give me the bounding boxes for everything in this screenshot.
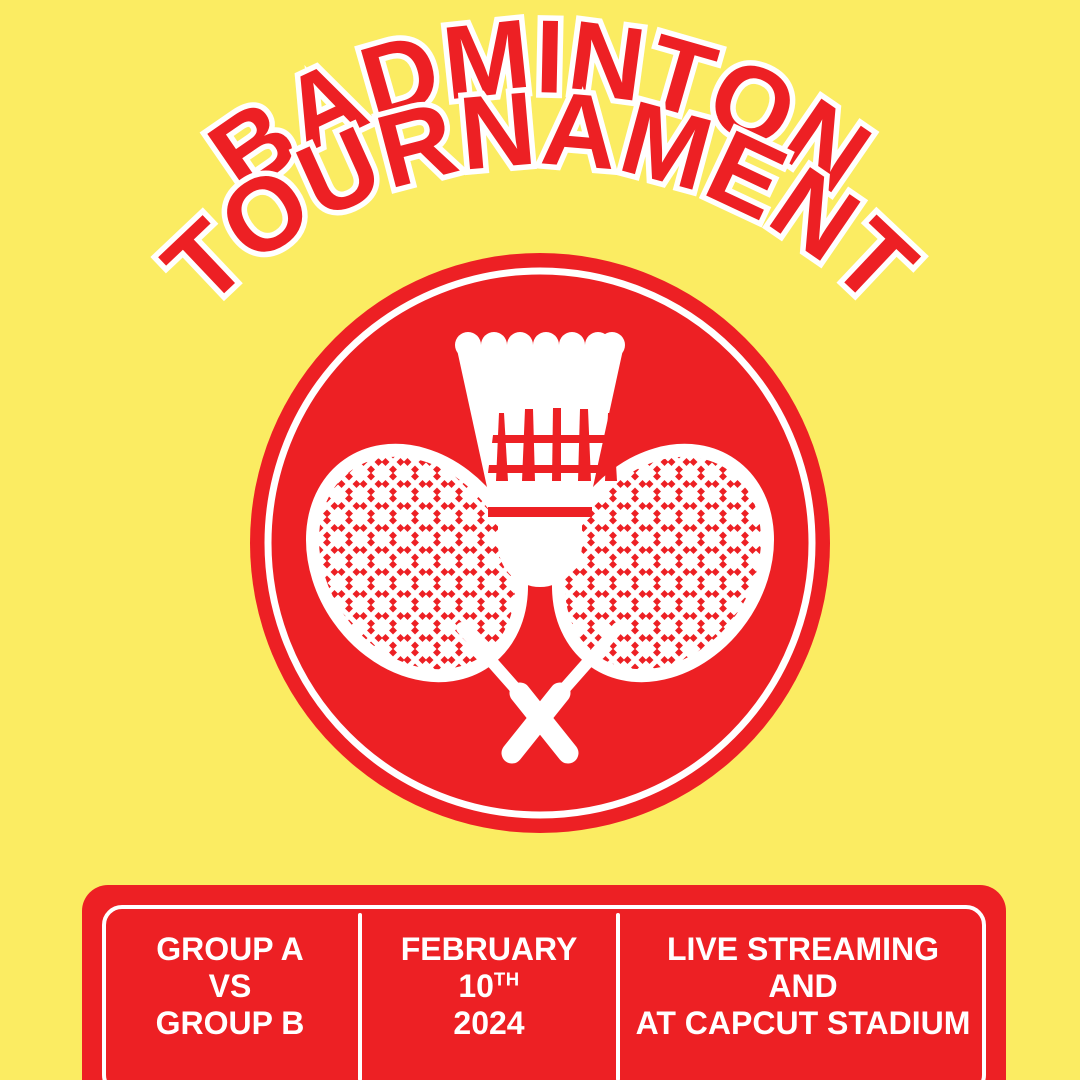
date-day-suffix: TH: [494, 968, 520, 989]
emblem-badge: [250, 253, 830, 833]
venue-line-1: LIVE STREAMING: [667, 931, 939, 968]
matchup-line-3: GROUP B: [156, 1005, 305, 1042]
banner-column-venue: LIVE STREAMING AND AT CAPCUT STADIUM: [620, 905, 986, 1042]
date-day-number: 10: [458, 968, 494, 1004]
banner-column-matchup: GROUP A VS GROUP B: [102, 905, 358, 1042]
poster-canvas: BADMINTON TOURNAMENT: [0, 0, 1080, 1080]
date-day: 10TH: [458, 968, 519, 1005]
banner-columns: GROUP A VS GROUP B FEBRUARY 10TH 2024 LI…: [102, 905, 986, 1080]
banner-column-date: FEBRUARY 10TH 2024: [362, 905, 616, 1042]
matchup-line-1: GROUP A: [156, 931, 304, 968]
matchup-line-2: VS: [209, 968, 252, 1005]
info-banner: GROUP A VS GROUP B FEBRUARY 10TH 2024 LI…: [82, 885, 1006, 1080]
venue-line-3: AT CAPCUT STADIUM: [636, 1005, 971, 1042]
date-year: 2024: [453, 1005, 524, 1042]
date-month: FEBRUARY: [401, 931, 578, 968]
venue-line-2: AND: [768, 968, 837, 1005]
